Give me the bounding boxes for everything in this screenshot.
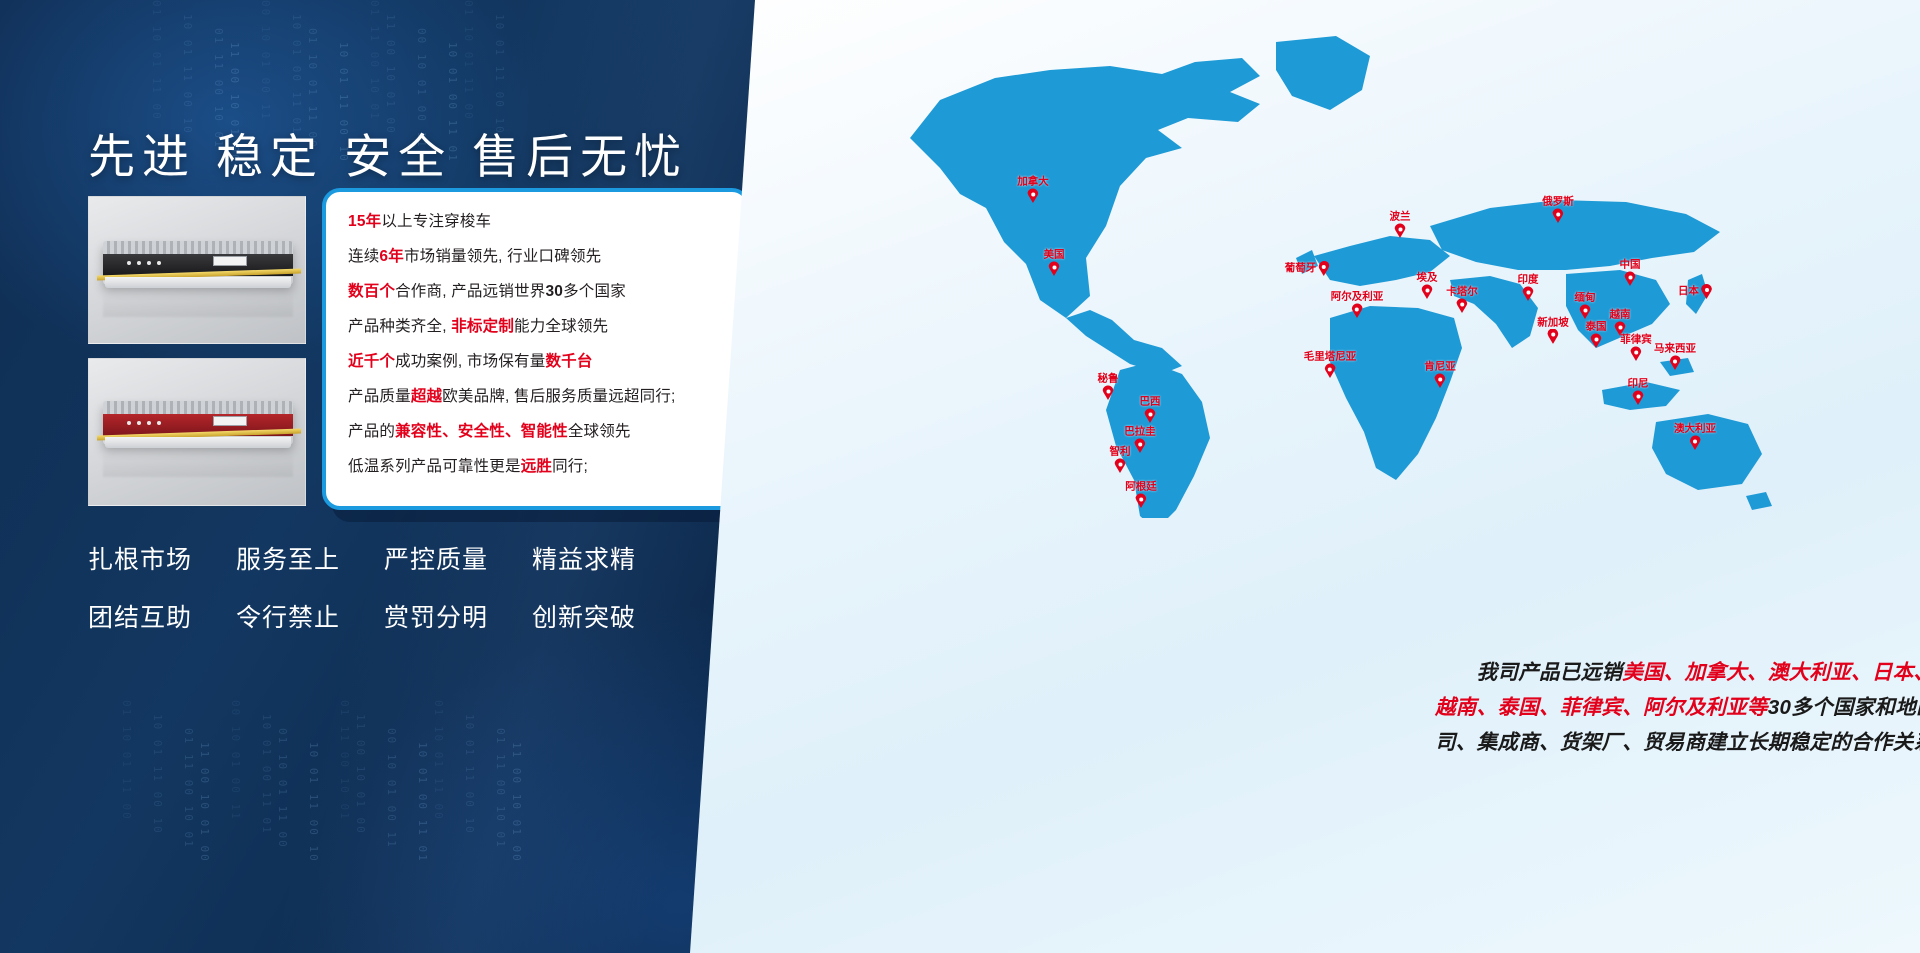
map-pin-label: 肯尼亚: [1424, 362, 1456, 373]
map-pin[interactable]: 印度: [1518, 275, 1539, 302]
map-pin[interactable]: 毛里塔尼亚: [1304, 352, 1357, 379]
location-pin-icon: [1435, 373, 1446, 388]
location-pin-icon: [1457, 298, 1468, 313]
feature-line-1: 15年以上专注穿梭车: [348, 214, 726, 230]
map-pin-label: 毛里塔尼亚: [1304, 352, 1357, 363]
map-pin-label: 菲律宾: [1620, 335, 1652, 346]
markets-paragraph: 我司产品已远销美国、加拿大、澳大利亚、日本、葡萄牙、秘鲁、智利、阿根廷、巴西、巴…: [1435, 655, 1920, 760]
map-pin-label: 智利: [1110, 447, 1131, 458]
slogan-item: 严控质量: [384, 540, 532, 576]
slogan-grid: 扎根市场服务至上严控质量精益求精团结互助令行禁止赏罚分明创新突破: [88, 540, 678, 634]
emphasis-text: 15年: [348, 213, 381, 230]
feature-line-6: 产品质量超越欧美品牌, 售后服务质量远超同行;: [348, 389, 726, 405]
map-pin-label: 俄罗斯: [1542, 197, 1574, 208]
location-pin-icon: [1670, 355, 1681, 370]
feature-line-5: 近千个成功案例, 市场保有量数千台: [348, 354, 726, 370]
plain-text: 成功案例, 市场保有量: [395, 353, 545, 370]
map-pin-label: 中国: [1620, 260, 1641, 271]
right-map-panel: 加拿大美国巴西秘鲁巴拉圭智利阿根廷葡萄牙阿尔及利亚毛里塔尼亚波兰俄罗斯埃及卡塔尔…: [690, 0, 1920, 953]
location-pin-icon: [1115, 458, 1126, 473]
map-pin[interactable]: 阿尔及利亚: [1331, 292, 1384, 319]
plain-text: 产品种类齐全,: [348, 318, 451, 335]
map-pin[interactable]: 俄罗斯: [1542, 197, 1574, 224]
plain-text: 全球领先: [568, 423, 631, 440]
shuttle-reflection: [103, 291, 293, 317]
map-pin[interactable]: 美国: [1044, 250, 1065, 277]
map-pin[interactable]: 肯尼亚: [1424, 362, 1456, 389]
location-pin-icon: [1145, 408, 1156, 423]
location-pin-icon: [1523, 286, 1534, 301]
map-pin[interactable]: 加拿大: [1017, 177, 1049, 204]
map-pin[interactable]: 中国: [1620, 260, 1641, 287]
emphasis-text: 近千个: [348, 353, 395, 370]
map-pin-label: 巴拉圭: [1124, 427, 1156, 438]
map-pin[interactable]: 秘鲁: [1098, 374, 1119, 401]
red-shuttle-photo: [88, 358, 306, 506]
map-landmasses: [910, 36, 1772, 518]
map-pin-label: 卡塔尔: [1446, 287, 1478, 298]
feature-line-7: 产品的兼容性、安全性、智能性全球领先: [348, 424, 726, 440]
map-pin-label: 葡萄牙: [1285, 263, 1317, 274]
location-pin-icon: [1135, 438, 1146, 453]
map-pin[interactable]: 印尼: [1628, 379, 1649, 406]
world-map-svg: [790, 18, 1890, 518]
shuttle-label-tag: [213, 256, 247, 266]
slogan-item: 团结互助: [88, 598, 236, 634]
emphasis-text: 数千台: [545, 353, 592, 370]
plain-text: 连续: [348, 248, 379, 265]
map-pin[interactable]: 波兰: [1390, 212, 1411, 239]
map-pin-label: 缅甸: [1575, 293, 1596, 304]
shuttle-illustration-black: [103, 241, 293, 285]
map-pin[interactable]: 葡萄牙: [1285, 261, 1330, 276]
map-pin-label: 阿根廷: [1125, 482, 1157, 493]
location-pin-icon: [1049, 261, 1060, 276]
location-pin-icon: [1625, 271, 1636, 286]
location-pin-icon: [1591, 333, 1602, 348]
shuttle-base: [105, 277, 291, 288]
map-pin-label: 澳大利亚: [1674, 424, 1716, 435]
plain-text: 多个国家: [563, 283, 626, 300]
emphasis-text: 远胜: [521, 458, 552, 475]
map-pin-label: 日本: [1678, 286, 1699, 297]
map-pin-label: 波兰: [1390, 212, 1411, 223]
map-pin[interactable]: 新加坡: [1537, 317, 1569, 344]
map-pin-label: 阿尔及利亚: [1331, 292, 1384, 303]
plain-text: 市场销量领先, 行业口碑领先: [404, 248, 601, 265]
paragraph-text: 我司产品已远销: [1435, 661, 1622, 684]
location-pin-icon: [1422, 284, 1433, 299]
map-pin[interactable]: 缅甸: [1575, 293, 1596, 320]
location-pin-icon: [1633, 390, 1644, 405]
map-pin-label: 巴西: [1140, 397, 1161, 408]
map-pin-label: 马来西亚: [1654, 344, 1696, 355]
feature-line-3: 数百个合作商, 产品远销世界30多个国家: [348, 284, 726, 300]
plain-text: 产品的: [348, 423, 395, 440]
map-pin[interactable]: 马来西亚: [1654, 344, 1696, 371]
map-pin[interactable]: 菲律宾: [1620, 335, 1652, 362]
map-pin[interactable]: 日本: [1678, 284, 1712, 299]
slogan-item: 精益求精: [532, 540, 680, 576]
map-pin[interactable]: 泰国: [1586, 322, 1607, 349]
map-pin[interactable]: 越南: [1610, 310, 1631, 337]
slogan-item: 令行禁止: [236, 598, 384, 634]
location-pin-icon: [1548, 329, 1559, 344]
map-pin-label: 印度: [1518, 275, 1539, 286]
slogan-item: 服务至上: [236, 540, 384, 576]
map-pin-label: 越南: [1610, 310, 1631, 321]
map-pin-label: 埃及: [1417, 273, 1438, 284]
map-pin-label: 印尼: [1628, 379, 1649, 390]
emphasis-text: 非标定制: [451, 318, 514, 335]
map-pin[interactable]: 巴西: [1140, 397, 1161, 424]
location-pin-icon: [1690, 435, 1701, 450]
location-pin-icon: [1580, 304, 1591, 319]
world-map: 加拿大美国巴西秘鲁巴拉圭智利阿根廷葡萄牙阿尔及利亚毛里塔尼亚波兰俄罗斯埃及卡塔尔…: [790, 18, 1890, 518]
location-pin-icon: [1325, 363, 1336, 378]
emphasis-text: 30: [545, 283, 563, 300]
location-pin-icon: [1553, 208, 1564, 223]
shuttle-illustration-red: [103, 401, 293, 445]
map-pin[interactable]: 阿根廷: [1125, 482, 1157, 509]
plain-text: 以上专注穿梭车: [381, 213, 491, 230]
plain-text: 产品质量: [348, 388, 411, 405]
map-pin[interactable]: 卡塔尔: [1446, 287, 1478, 314]
black-shuttle-photo: [88, 196, 306, 344]
feature-line-8: 低温系列产品可靠性更是远胜同行;: [348, 459, 726, 475]
plain-text: 低温系列产品可靠性更是: [348, 458, 521, 475]
feature-line-2: 连续6年市场销量领先, 行业口碑领先: [348, 249, 726, 265]
shuttle-deck: [103, 241, 293, 254]
location-pin-icon: [1395, 223, 1406, 238]
page-title: 先进 稳定 安全 售后无忧: [88, 118, 688, 187]
map-pin-label: 加拿大: [1017, 177, 1049, 188]
slogan-item: 赏罚分明: [384, 598, 532, 634]
shuttle-label-tag: [213, 416, 247, 426]
emphasis-text: 超越: [411, 388, 442, 405]
map-pin[interactable]: 埃及: [1417, 273, 1438, 300]
location-pin-icon: [1352, 303, 1363, 318]
shuttle-base: [105, 437, 291, 448]
poster-canvas: 01 10 01 11 0010 01 11 00 1001 11 00 10 …: [0, 0, 1920, 953]
plain-text: 能力全球领先: [514, 318, 608, 335]
emphasis-text: 6年: [379, 248, 404, 265]
emphasis-text: 数百个: [348, 283, 395, 300]
map-pin-label: 新加坡: [1537, 317, 1569, 328]
location-pin-icon: [1027, 188, 1038, 203]
map-pin[interactable]: 智利: [1110, 447, 1131, 474]
location-pin-icon: [1136, 493, 1147, 508]
slogan-item: 创新突破: [532, 598, 680, 634]
map-pin-label: 泰国: [1586, 322, 1607, 333]
location-pin-icon: [1318, 261, 1329, 276]
plain-text: 同行;: [552, 458, 588, 475]
map-pin-label: 美国: [1044, 250, 1065, 261]
emphasis-text: 兼容性、安全性、智能性: [395, 423, 568, 440]
location-pin-icon: [1103, 385, 1114, 400]
shuttle-reflection: [103, 451, 293, 477]
plain-text: 欧美品牌, 售后服务质量远超同行;: [442, 388, 675, 405]
feature-highlights-card: 15年以上专注穿梭车连续6年市场销量领先, 行业口碑领先数百个合作商, 产品远销…: [322, 188, 750, 510]
map-pin[interactable]: 澳大利亚: [1674, 424, 1716, 451]
plain-text: 合作商, 产品远销世界: [395, 283, 545, 300]
map-pin-label: 秘鲁: [1098, 374, 1119, 385]
location-pin-icon: [1631, 346, 1642, 361]
shuttle-deck: [103, 401, 293, 414]
feature-line-4: 产品种类齐全, 非标定制能力全球领先: [348, 319, 726, 335]
slogan-item: 扎根市场: [88, 540, 236, 576]
location-pin-icon: [1701, 284, 1712, 299]
